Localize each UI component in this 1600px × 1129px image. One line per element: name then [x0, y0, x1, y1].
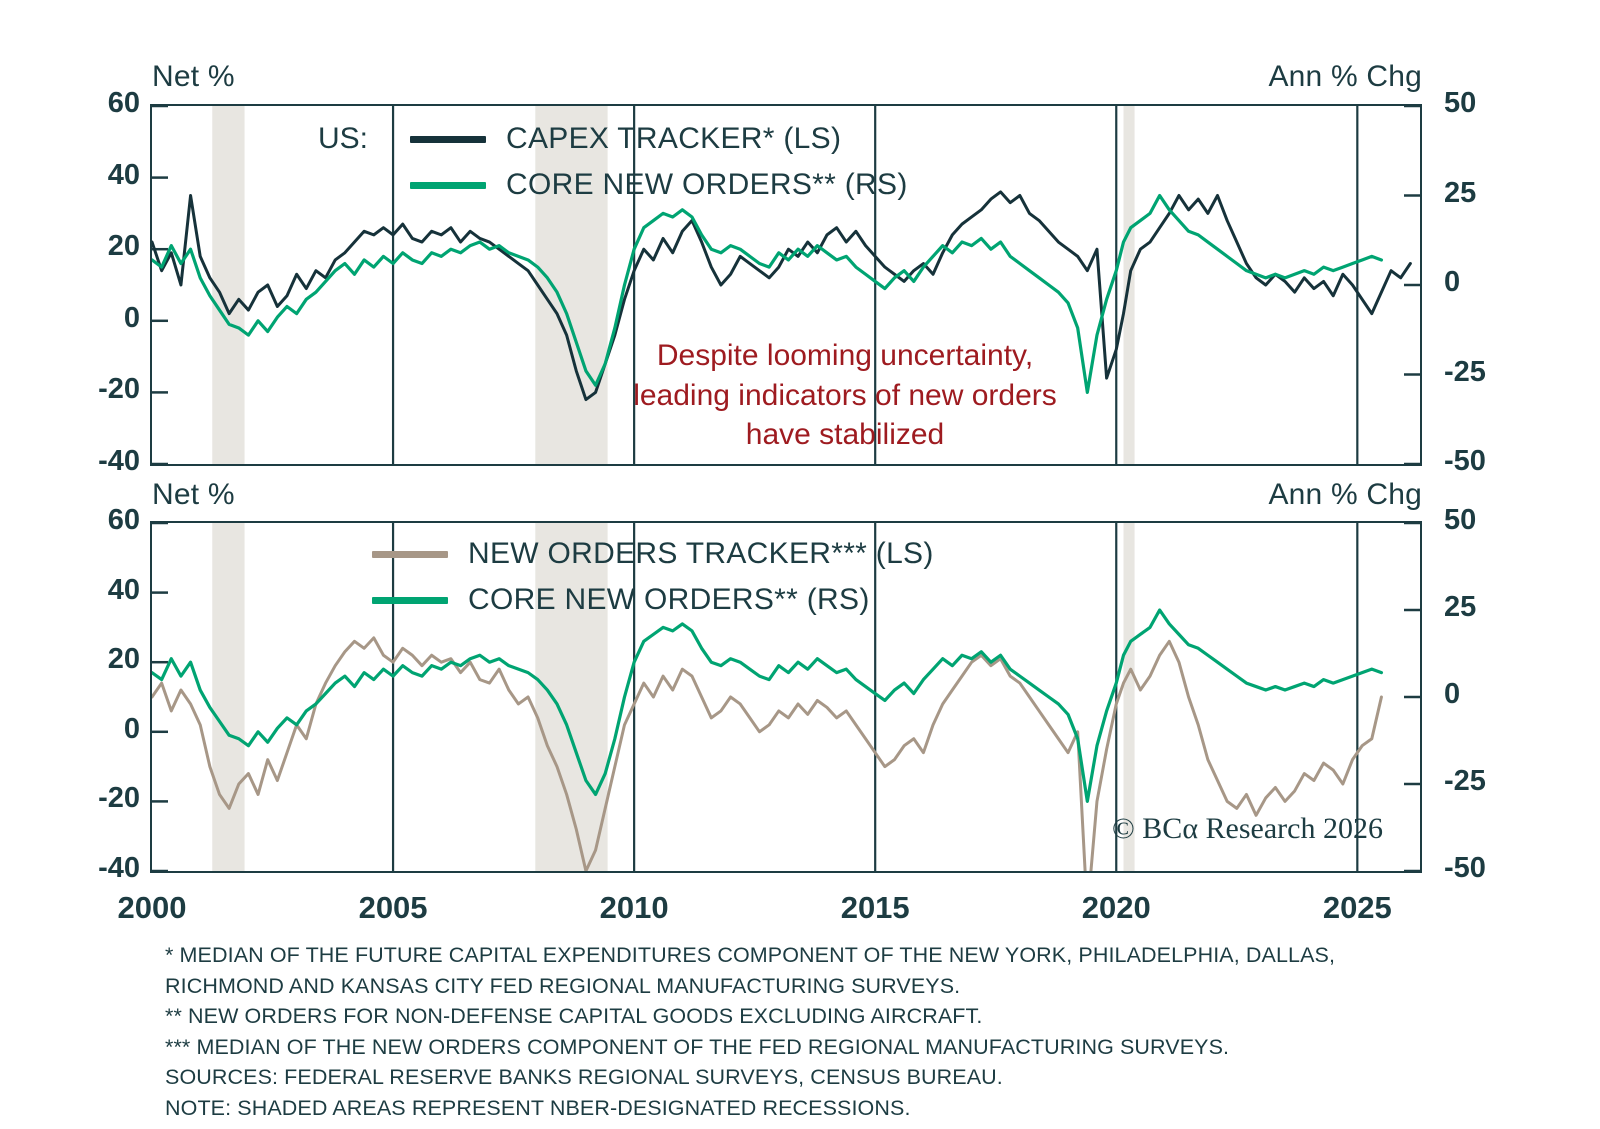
legend-swatch-core-new-orders-bottom: [372, 597, 448, 604]
x-tick-label: 2000: [108, 890, 196, 926]
x-tick-label: 2010: [590, 890, 678, 926]
x-tick-label: 2020: [1072, 890, 1160, 926]
footnote-line-5: SOURCES: FEDERAL RESERVE BANKS REGIONAL …: [165, 1062, 1335, 1093]
y-tick-label: 60: [52, 504, 140, 537]
annotation-line-2: leading indicators of new orders: [620, 376, 1070, 416]
bottom-right-axis-label: Ann % Chg: [1268, 478, 1422, 512]
y-tick-label: 20: [52, 643, 140, 676]
y2-tick-label: 25: [1444, 591, 1534, 624]
y-tick-label: -20: [52, 782, 140, 815]
legend-label-new-orders-tracker: NEW ORDERS TRACKER*** (LS): [468, 537, 934, 571]
legend-swatch-new-orders-tracker: [372, 551, 448, 558]
footnote-line-2: RICHMOND AND KANSAS CITY FED REGIONAL MA…: [165, 971, 1335, 1002]
top-right-axis-label: Ann % Chg: [1268, 60, 1422, 94]
top-chart-legend: US: CAPEX TRACKER* (LS) CORE NEW ORDERS*…: [318, 116, 908, 208]
top-left-axis-label: Net %: [152, 60, 235, 94]
legend-swatch-capex-tracker: [410, 136, 486, 143]
bottom-left-axis-label: Net %: [152, 478, 235, 512]
footnote-line-1: * MEDIAN OF THE FUTURE CAPITAL EXPENDITU…: [165, 940, 1335, 971]
x-tick-label: 2015: [831, 890, 919, 926]
legend-row-capex: US: CAPEX TRACKER* (LS): [318, 116, 908, 162]
legend-label-core-new-orders-top: CORE NEW ORDERS** (RS): [506, 168, 908, 202]
annotation-line-3: have stabilized: [620, 415, 1070, 455]
legend-row-core-new-orders-top: CORE NEW ORDERS** (RS): [318, 162, 908, 208]
annotation-line-1: Despite looming uncertainty,: [620, 336, 1070, 376]
y2-tick-label: -50: [1444, 445, 1534, 478]
footnote-line-3: ** NEW ORDERS FOR NON-DEFENSE CAPITAL GO…: [165, 1001, 1335, 1032]
y-tick-label: 60: [52, 87, 140, 120]
y2-tick-label: 50: [1444, 87, 1534, 120]
y-tick-label: -20: [52, 373, 140, 406]
y-tick-label: -40: [52, 445, 140, 478]
y-tick-label: 40: [52, 574, 140, 607]
legend-prefix-us: US:: [318, 122, 410, 156]
y2-tick-label: 25: [1444, 177, 1534, 210]
y-tick-label: 0: [52, 713, 140, 746]
y-tick-label: -40: [52, 852, 140, 885]
legend-label-core-new-orders-bottom: CORE NEW ORDERS** (RS): [468, 583, 870, 617]
copyright-notice: © BCα Research 2026: [1112, 812, 1383, 846]
legend-row-new-orders-tracker: NEW ORDERS TRACKER*** (LS): [372, 531, 934, 577]
legend-row-core-new-orders-bottom: CORE NEW ORDERS** (RS): [372, 577, 934, 623]
footnote-line-6: NOTE: SHADED AREAS REPRESENT NBER-DESIGN…: [165, 1093, 1335, 1124]
y2-tick-label: 50: [1444, 504, 1534, 537]
chart-page: Net % Ann % Chg US: CAPEX TRACKER* (LS) …: [0, 0, 1600, 1129]
x-tick-label: 2025: [1313, 890, 1401, 926]
y2-tick-label: -25: [1444, 765, 1534, 798]
footnotes-block: * MEDIAN OF THE FUTURE CAPITAL EXPENDITU…: [165, 940, 1335, 1123]
y2-tick-label: 0: [1444, 266, 1534, 299]
footnote-line-4: *** MEDIAN OF THE NEW ORDERS COMPONENT O…: [165, 1032, 1335, 1063]
y-tick-label: 0: [52, 302, 140, 335]
y2-tick-label: -25: [1444, 356, 1534, 389]
legend-label-capex-tracker: CAPEX TRACKER* (LS): [506, 122, 841, 156]
y-tick-label: 20: [52, 230, 140, 263]
x-tick-label: 2005: [349, 890, 437, 926]
y2-tick-label: 0: [1444, 678, 1534, 711]
legend-swatch-core-new-orders-top: [410, 182, 486, 189]
bottom-chart-legend: NEW ORDERS TRACKER*** (LS) CORE NEW ORDE…: [372, 531, 934, 623]
y-tick-label: 40: [52, 159, 140, 192]
y2-tick-label: -50: [1444, 852, 1534, 885]
chart-annotation: Despite looming uncertainty, leading ind…: [620, 336, 1070, 455]
